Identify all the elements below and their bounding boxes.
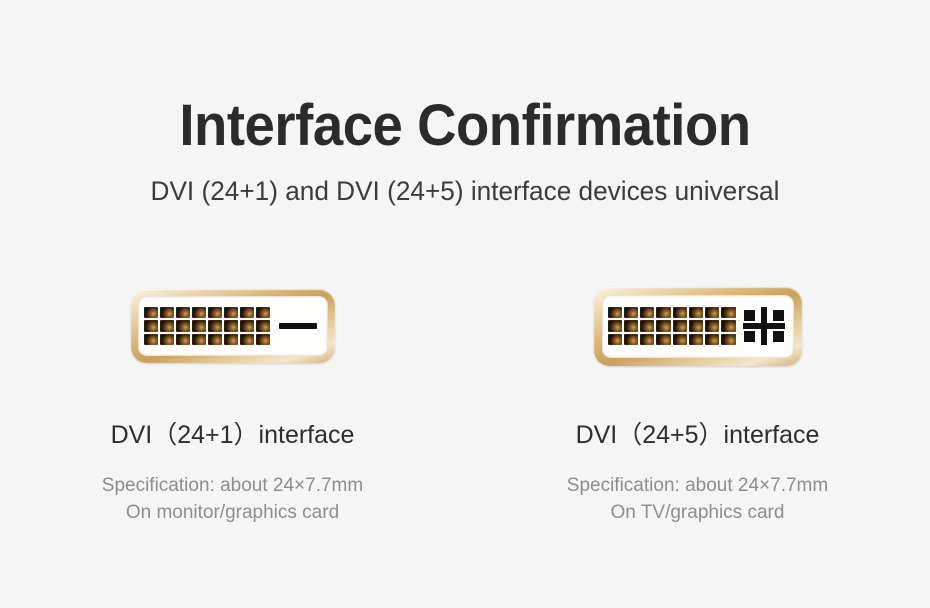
connector-shell-interior	[602, 295, 794, 358]
pin	[144, 334, 158, 345]
quadrant-pin	[744, 310, 755, 321]
pin	[721, 334, 735, 345]
pin	[721, 307, 735, 318]
flat-blade-pin-icon	[279, 323, 317, 329]
interface-confirmation-page: Interface Confirmation DVI (24+1) and DV…	[0, 0, 930, 608]
pin	[208, 320, 222, 331]
blade-zone-cross	[740, 307, 788, 345]
pin	[176, 320, 190, 331]
pin	[192, 334, 206, 345]
pin	[705, 307, 719, 318]
pin	[144, 320, 158, 331]
connector-image-wrap-dvi-24-1	[131, 278, 335, 374]
pin	[240, 334, 254, 345]
cross-bar-vertical	[761, 307, 767, 345]
pin	[256, 307, 270, 318]
pin	[160, 334, 174, 345]
pin	[689, 320, 703, 331]
quadrant-pin	[773, 331, 784, 342]
pin	[673, 334, 687, 345]
page-title: Interface Confirmation	[28, 96, 902, 157]
pin	[608, 334, 622, 345]
connector-caption-dvi-24-5: DVI（24+5）interface	[576, 422, 820, 450]
pin	[176, 307, 190, 318]
pin	[144, 307, 158, 318]
connector-spec-dvi-24-1: Specification: about 24×7.7mm On monitor…	[102, 472, 363, 527]
pin	[624, 307, 638, 318]
connector-card-dvi-24-1: DVI（24+1）interface Specification: about …	[0, 278, 465, 527]
connector-image-wrap-dvi-24-5	[594, 278, 802, 374]
pin	[224, 320, 238, 331]
pin	[673, 307, 687, 318]
pin	[176, 334, 190, 345]
pin	[608, 320, 622, 331]
page-header: Interface Confirmation DVI (24+1) and DV…	[0, 96, 930, 207]
pin	[640, 320, 654, 331]
pin	[656, 334, 670, 345]
quadrant-pin	[773, 310, 784, 321]
pin	[640, 334, 654, 345]
pin	[673, 320, 687, 331]
dvi-24-5-connector-icon	[594, 287, 802, 366]
pin	[721, 320, 735, 331]
quadrant-pin	[744, 331, 755, 342]
spec-dimensions: Specification: about 24×7.7mm	[102, 472, 363, 500]
spec-usage: On monitor/graphics card	[102, 499, 363, 527]
spec-dimensions: Specification: about 24×7.7mm	[567, 472, 828, 500]
pin	[192, 320, 206, 331]
pin-grid-24	[144, 307, 270, 345]
cross-blade-pin-icon	[743, 307, 785, 345]
connector-spec-dvi-24-5: Specification: about 24×7.7mm On TV/grap…	[567, 472, 828, 527]
pin	[240, 307, 254, 318]
pin-grid-24	[608, 307, 736, 345]
pin	[256, 320, 270, 331]
connector-comparison: DVI（24+1）interface Specification: about …	[0, 278, 930, 527]
connector-caption-dvi-24-1: DVI（24+1）interface	[111, 422, 355, 450]
pin	[208, 334, 222, 345]
pin	[192, 307, 206, 318]
pin	[705, 320, 719, 331]
connector-card-dvi-24-5: DVI（24+5）interface Specification: about …	[465, 278, 930, 527]
connector-shell-interior	[138, 296, 328, 356]
pin	[224, 307, 238, 318]
pin	[656, 320, 670, 331]
pin	[705, 334, 719, 345]
pin	[224, 334, 238, 345]
pin	[624, 334, 638, 345]
pin	[689, 307, 703, 318]
dvi-24-1-connector-icon	[131, 289, 335, 363]
pin	[656, 307, 670, 318]
pin	[608, 307, 622, 318]
pin	[689, 334, 703, 345]
pin	[208, 307, 222, 318]
blade-zone-flat	[274, 307, 322, 345]
pin	[160, 320, 174, 331]
pin	[240, 320, 254, 331]
pin	[256, 334, 270, 345]
spec-usage: On TV/graphics card	[567, 499, 828, 527]
pin	[624, 320, 638, 331]
page-subtitle: DVI (24+1) and DVI (24+5) interface devi…	[14, 157, 916, 207]
pin	[160, 307, 174, 318]
pin	[640, 307, 654, 318]
